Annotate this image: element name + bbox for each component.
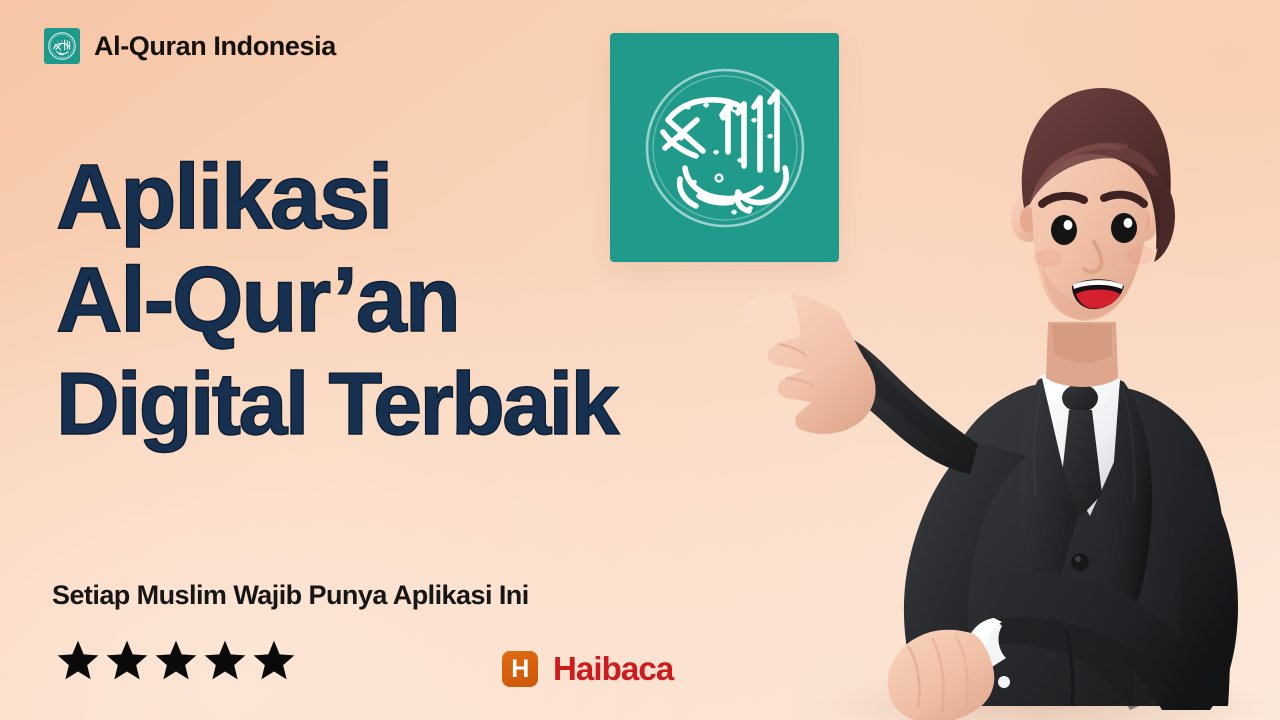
haibaca-watermark: H Haibaca: [502, 650, 673, 688]
headline-line-2: Al-Qur’an: [56, 249, 756, 352]
brand-lockup: Al-Quran Indonesia: [44, 28, 336, 64]
quran-emblem-icon: [44, 28, 80, 64]
subtitle-text: Setiap Muslim Wajib Punya Aplikasi Ini: [52, 580, 529, 611]
haibaca-logo-icon: H: [502, 651, 538, 687]
star-icon: [56, 638, 100, 682]
page-title: Aplikasi Al-Qur’an Digital Terbaik: [56, 146, 756, 455]
headline-line-1: Aplikasi: [56, 146, 756, 249]
brand-name-label: Al-Quran Indonesia: [94, 31, 336, 62]
star-rating: [56, 638, 296, 682]
star-icon: [203, 638, 247, 682]
star-icon: [252, 638, 296, 682]
star-icon: [154, 638, 198, 682]
promo-banner-canvas: Al-Quran Indonesia: [0, 0, 1280, 720]
star-icon: [105, 638, 149, 682]
haibaca-mark-letter: H: [511, 657, 529, 682]
haibaca-name-label: Haibaca: [553, 650, 673, 688]
headline-line-3: Digital Terbaik: [56, 352, 756, 455]
